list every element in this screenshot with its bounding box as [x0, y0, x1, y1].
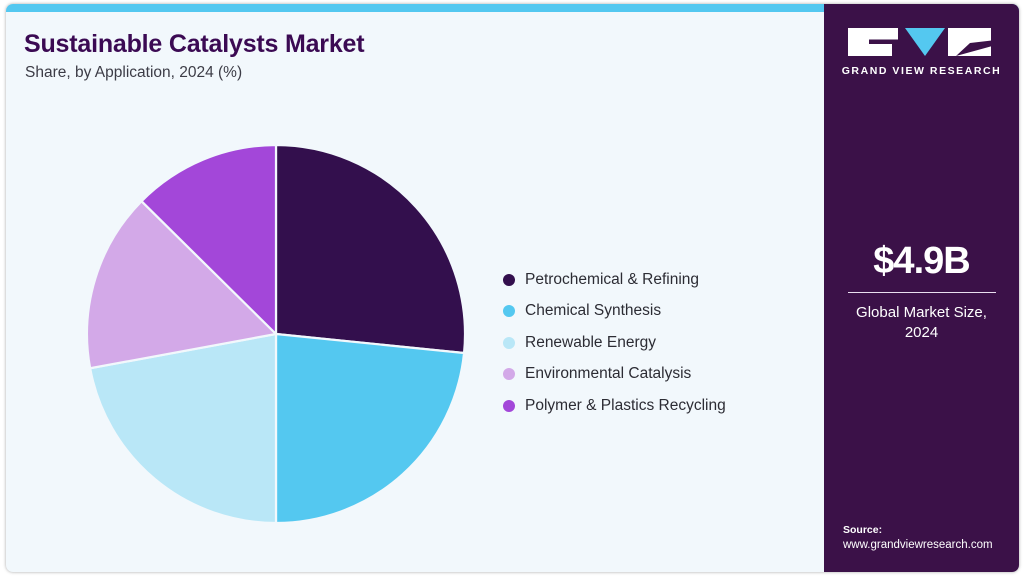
- legend-item-label: Renewable Energy: [525, 334, 656, 352]
- page-subtitle: Share, by Application, 2024 (%): [25, 64, 242, 82]
- legend-item-label: Chemical Synthesis: [525, 302, 661, 320]
- legend-item-label: Environmental Catalysis: [525, 365, 691, 383]
- legend-item[interactable]: Chemical Synthesis: [503, 296, 803, 328]
- market-size-value: $4.9B: [824, 242, 1019, 280]
- source-url[interactable]: www.grandviewresearch.com: [843, 538, 1019, 554]
- triangle-icon: [905, 28, 945, 56]
- pie-slice[interactable]: [276, 334, 464, 523]
- legend-item[interactable]: Petrochemical & Refining: [503, 264, 803, 296]
- legend-item-label: Petrochemical & Refining: [525, 271, 699, 289]
- infographic-root: Sustainable Catalysts Market Share, by A…: [0, 0, 1025, 576]
- legend-swatch-icon: [503, 337, 515, 349]
- source-label: Source:: [843, 523, 1019, 538]
- gvr-logo-icon: [848, 26, 996, 58]
- legend-swatch-icon: [503, 368, 515, 380]
- market-size-stat: $4.9B Global Market Size, 2024: [824, 242, 1019, 343]
- legend-item[interactable]: Environmental Catalysis: [503, 359, 803, 391]
- brand-name: GRAND VIEW RESEARCH: [824, 65, 1019, 77]
- page-title: Sustainable Catalysts Market: [24, 30, 364, 59]
- market-size-caption: Global Market Size, 2024: [824, 303, 1019, 343]
- brand-side-panel: GRAND VIEW RESEARCH $4.9B Global Market …: [824, 4, 1019, 572]
- legend-swatch-icon: [503, 400, 515, 412]
- chart-panel: Sustainable Catalysts Market Share, by A…: [6, 12, 824, 572]
- legend-swatch-icon: [503, 305, 515, 317]
- pie-slice[interactable]: [276, 145, 465, 353]
- chart-legend: Petrochemical & RefiningChemical Synthes…: [503, 264, 803, 422]
- pie-chart-svg: [86, 144, 466, 524]
- source-footer: Source: www.grandviewresearch.com: [843, 523, 1019, 554]
- legend-item-label: Polymer & Plastics Recycling: [525, 397, 726, 415]
- stat-divider: [848, 292, 996, 293]
- legend-item[interactable]: Renewable Energy: [503, 327, 803, 359]
- legend-item[interactable]: Polymer & Plastics Recycling: [503, 390, 803, 422]
- legend-swatch-icon: [503, 274, 515, 286]
- pie-slice-group: [87, 145, 465, 523]
- brand-logo: GRAND VIEW RESEARCH: [824, 26, 1019, 77]
- infographic-card: Sustainable Catalysts Market Share, by A…: [6, 4, 1019, 572]
- pie-chart: [86, 144, 466, 524]
